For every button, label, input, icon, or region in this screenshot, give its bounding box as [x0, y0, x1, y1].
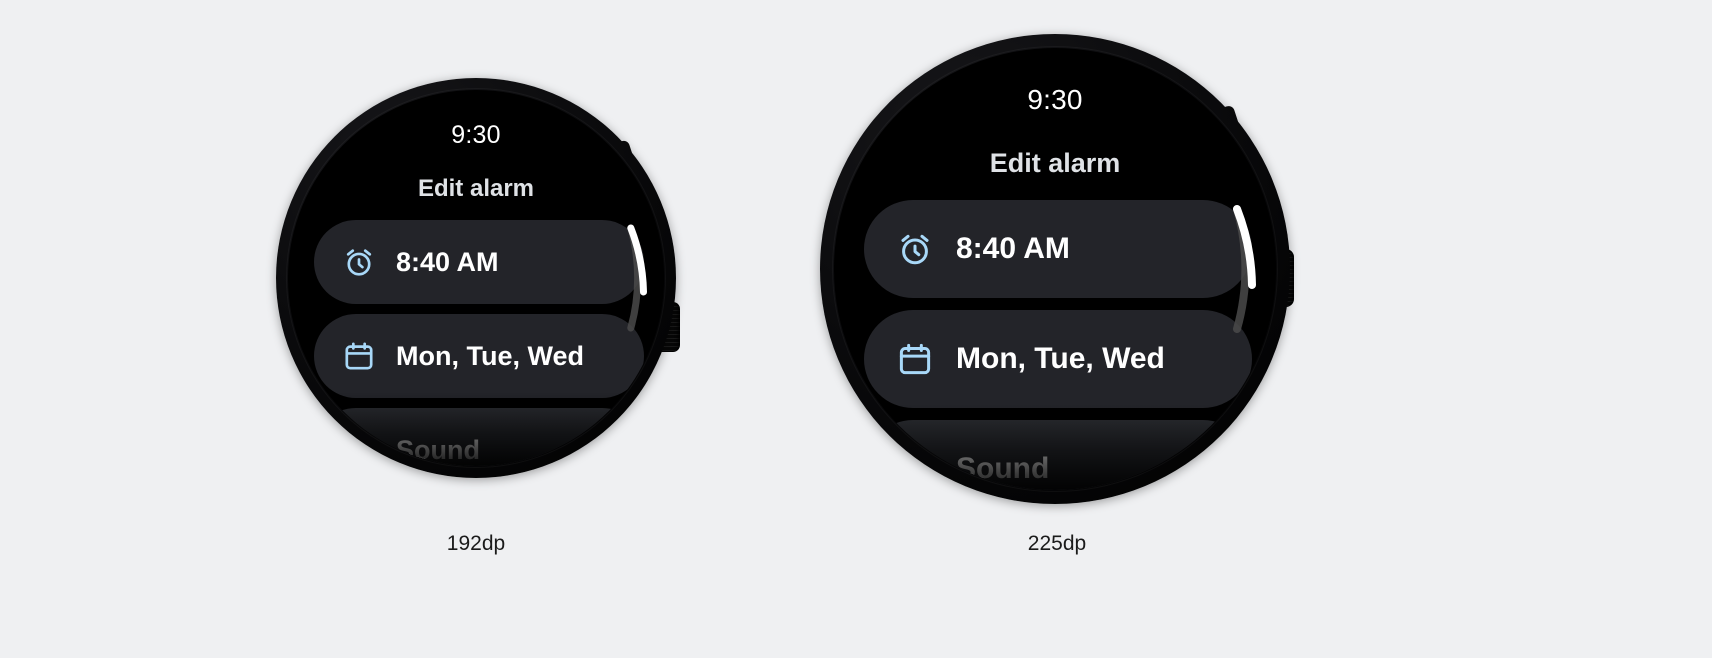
size-caption-225dp: 225dp [957, 532, 1157, 556]
spec-canvas: 9:30 Edit alarm 8:40 AM [0, 0, 1712, 658]
watch-case: 9:30 Edit alarm 8:40 AM [276, 78, 676, 478]
size-caption-192dp: 192dp [376, 532, 576, 556]
watch-device-192dp: 9:30 Edit alarm 8:40 AM [276, 78, 676, 478]
watch-case: 9:30 Edit alarm 8:40 AM [820, 34, 1290, 504]
scroll-indicator[interactable] [276, 78, 676, 478]
watch-device-225dp: 9:30 Edit alarm 8:40 AM [820, 34, 1290, 504]
scroll-indicator[interactable] [820, 34, 1290, 504]
